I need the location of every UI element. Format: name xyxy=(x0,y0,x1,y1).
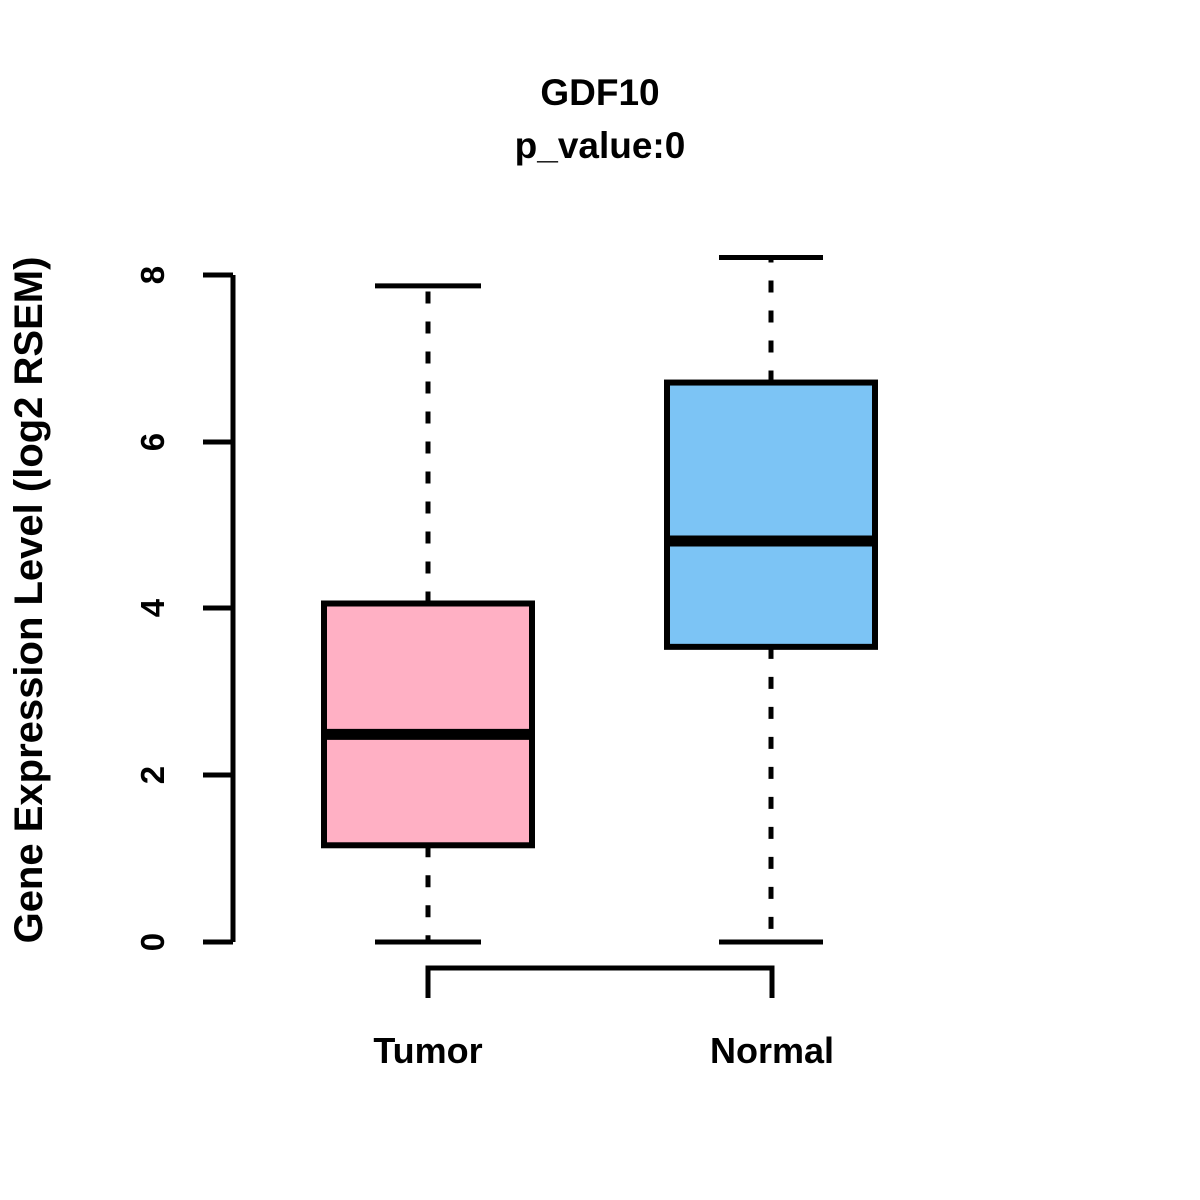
boxplot-figure: GDF10 p_value:0 Gene Expression Level (l… xyxy=(0,0,1200,1200)
boxplot-canvas: GDF10 p_value:0 Gene Expression Level (l… xyxy=(0,0,1200,1200)
chart-title: GDF10 xyxy=(540,72,659,113)
tumor-box-rect[interactable] xyxy=(324,603,532,845)
y-tick-label-0: 0 xyxy=(134,933,171,951)
normal-box-rect[interactable] xyxy=(667,383,875,647)
y-tick-label-8: 8 xyxy=(134,266,171,284)
chart-subtitle: p_value:0 xyxy=(515,125,686,166)
y-tick-label-4: 4 xyxy=(134,598,171,617)
x-tick-label-tumor: Tumor xyxy=(373,1030,482,1071)
x-tick-label-normal: Normal xyxy=(710,1030,834,1071)
y-tick-label-6: 6 xyxy=(134,433,171,451)
plot-background xyxy=(0,0,1200,1200)
y-axis-title: Gene Expression Level (log2 RSEM) xyxy=(7,257,51,944)
y-tick-label-2: 2 xyxy=(134,766,171,784)
